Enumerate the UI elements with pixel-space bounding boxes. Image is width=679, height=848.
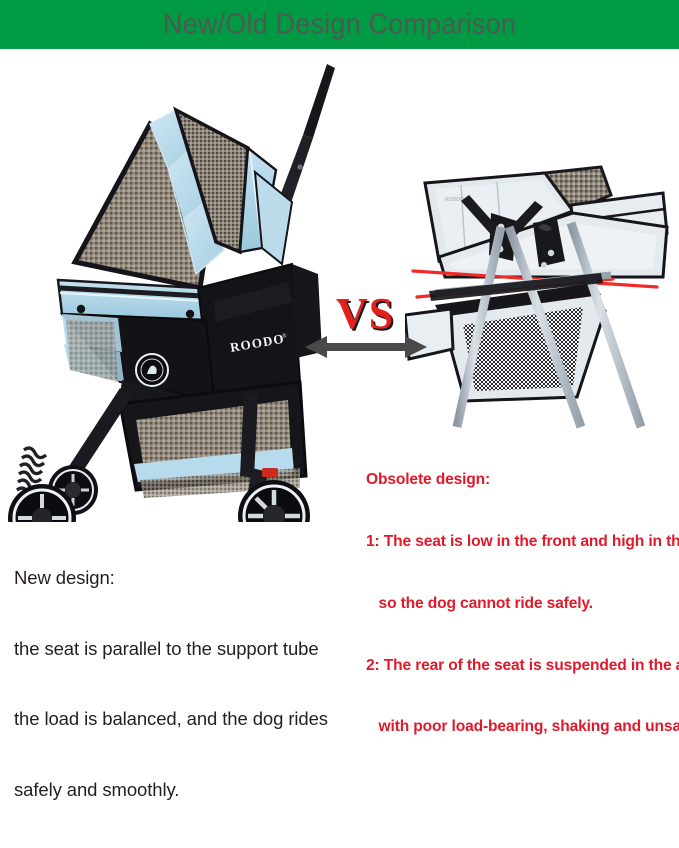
brand-badge-icon xyxy=(136,354,168,386)
obsolete-design-stroller-photo: ROODO xyxy=(405,165,679,430)
comparison-arrow xyxy=(305,336,427,358)
svg-text:ROODO: ROODO xyxy=(445,197,464,203)
header-banner: New/Old Design Comparison xyxy=(0,0,679,49)
obsolete-design-line-1: 1: The seat is low in the front and high… xyxy=(366,532,679,553)
comparison-infographic: New/Old Design Comparison xyxy=(0,0,679,659)
new-design-stroller-photo: ROODO ® xyxy=(0,52,345,522)
new-design-line-1: the seat is parallel to the support tube xyxy=(14,637,328,661)
new-stroller-illustration: ROODO ® xyxy=(0,52,345,522)
obsolete-design-line-2: so the dog cannot ride safely. xyxy=(366,594,679,615)
new-design-line-3: safely and smoothly. xyxy=(14,778,328,802)
new-design-heading: New design: xyxy=(14,566,328,590)
double-headed-arrow-icon xyxy=(305,336,427,358)
new-design-line-2: the load is balanced, and the dog rides xyxy=(14,707,328,731)
obsolete-design-line-4: with poor load-bearing, shaking and unsa… xyxy=(366,717,679,738)
vs-label: VS xyxy=(336,288,394,339)
obsolete-design-heading: Obsolete design: xyxy=(366,470,679,491)
page-title: New/Old Design Comparison xyxy=(163,8,516,41)
old-stroller-illustration: ROODO xyxy=(405,165,679,430)
new-design-caption: New design: the seat is parallel to the … xyxy=(14,519,328,848)
obsolete-design-caption: Obsolete design: 1: The seat is low in t… xyxy=(366,429,679,779)
